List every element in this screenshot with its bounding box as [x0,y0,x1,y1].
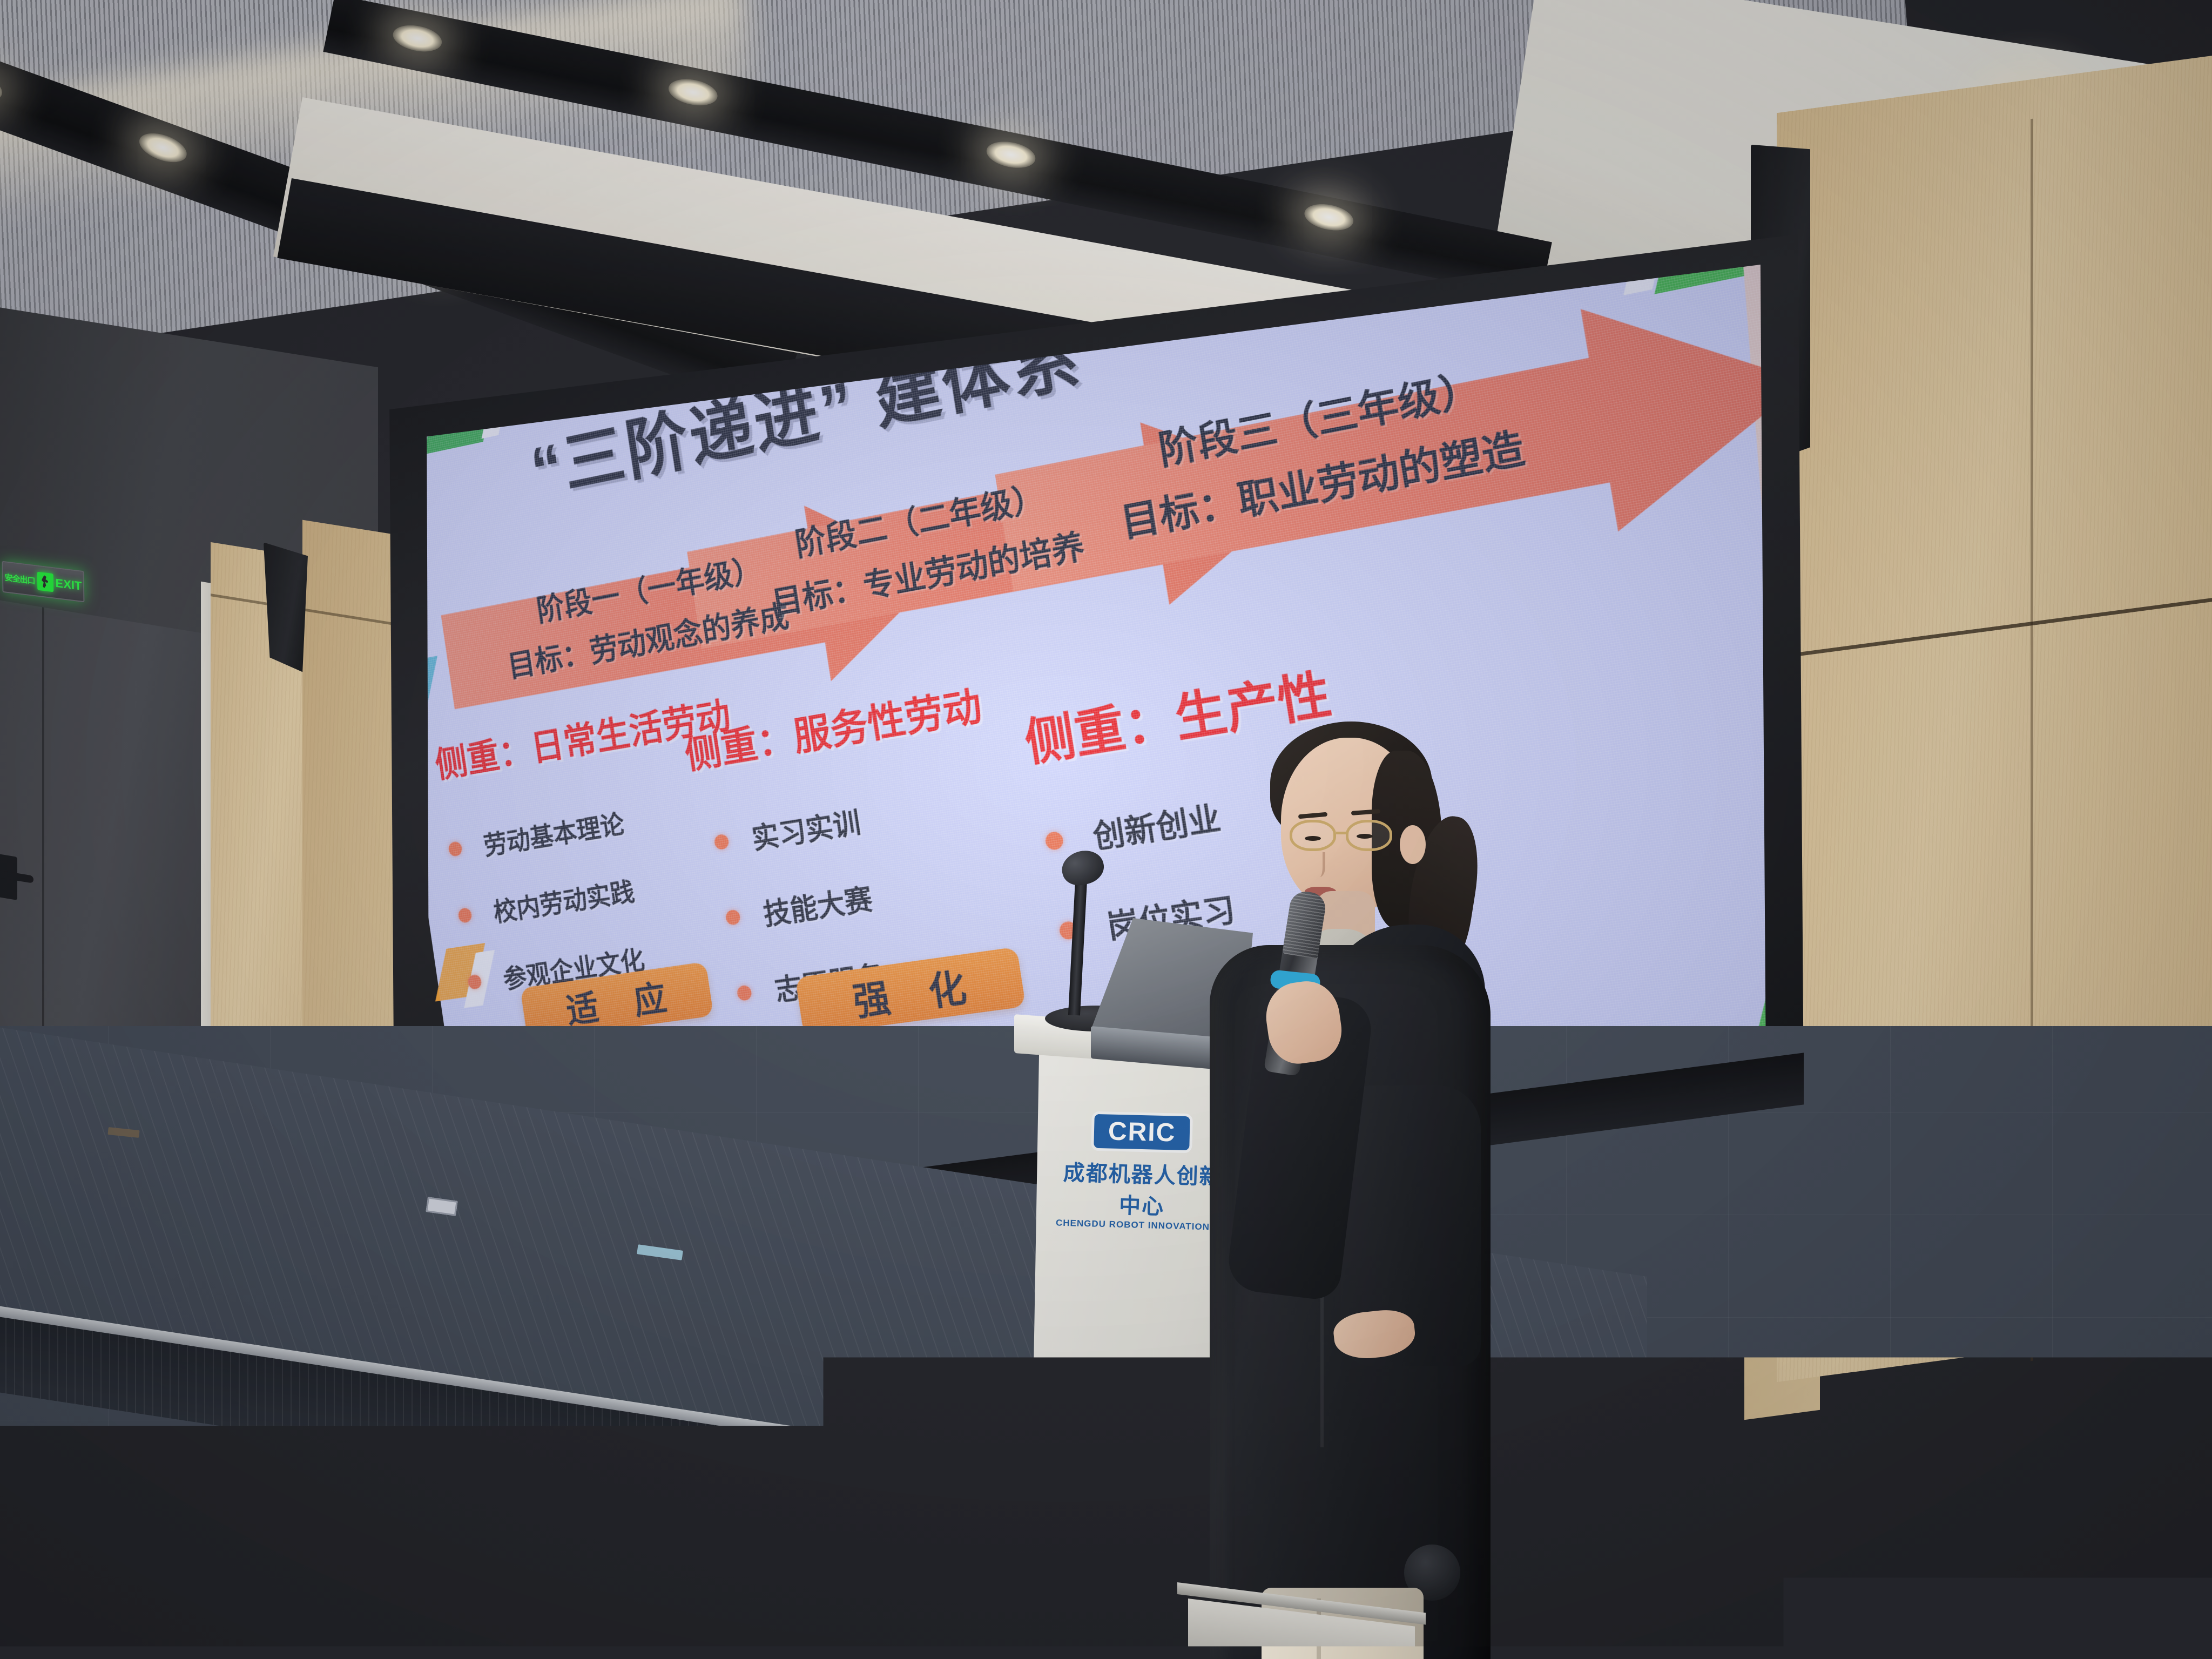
bullet-dot-icon [467,974,482,990]
door-seam [42,607,44,1061]
running-man-icon [37,572,53,592]
ceiling-spotlight [666,75,720,109]
eye-right [1357,834,1373,839]
stage-2-focus: 侧重：服务性劳动 [680,673,985,780]
podium-logo-chinese: 成都机器人创新中心 [1055,1155,1229,1223]
list-item: 劳动基本理论 [446,803,626,868]
list-item-label: 校内劳动实践 [491,871,637,929]
exit-door[interactable] [0,597,211,1088]
eye-left [1305,836,1321,841]
presenter [1210,713,1491,1659]
list-item-label: 实习实训 [749,799,864,857]
bullet-dot-icon [448,841,463,857]
list-item-label: 劳动基本理论 [481,803,626,862]
podium-logo: CRIC 成都机器人创新中心 CHENGDU ROBOT INNOVATION … [1056,1112,1229,1237]
exit-sign-chinese-label: 安全出口 [4,571,35,586]
list-item: 创新创业 [1042,792,1224,865]
list-item: 实习实训 [712,799,863,863]
lens-left [1290,820,1336,851]
arm-left [1340,1085,1481,1366]
ceiling-spotlight [0,66,6,106]
wall-speaker-left [264,542,308,673]
nose [1311,852,1325,877]
bullet-dot-icon [725,909,741,926]
bullet-dot-icon [457,907,473,923]
eyeglasses [1290,820,1404,851]
ceiling-spotlight [1302,200,1355,234]
ceiling-spotlight [136,127,191,168]
ceiling-spotlight [390,21,444,55]
bullet-dot-icon [713,833,730,850]
ceiling-spotlight [984,138,1037,172]
door-handle-icon[interactable] [0,852,17,900]
cric-logo-mark: CRIC [1091,1111,1193,1154]
bullet-dot-icon [1044,831,1064,851]
hand-on-laptop [1332,1307,1417,1361]
bullet-dot-icon [736,984,752,1001]
conference-room-scene: 安全出口 EXIT [0,0,2212,1659]
list-item-label: 创新创业 [1089,792,1224,858]
exit-sign-english-label: EXIT [55,576,82,594]
list-item-label: 技能大赛 [760,876,875,933]
list-item: 校内劳动实践 [456,871,637,934]
list-item: 技能大赛 [723,876,875,939]
